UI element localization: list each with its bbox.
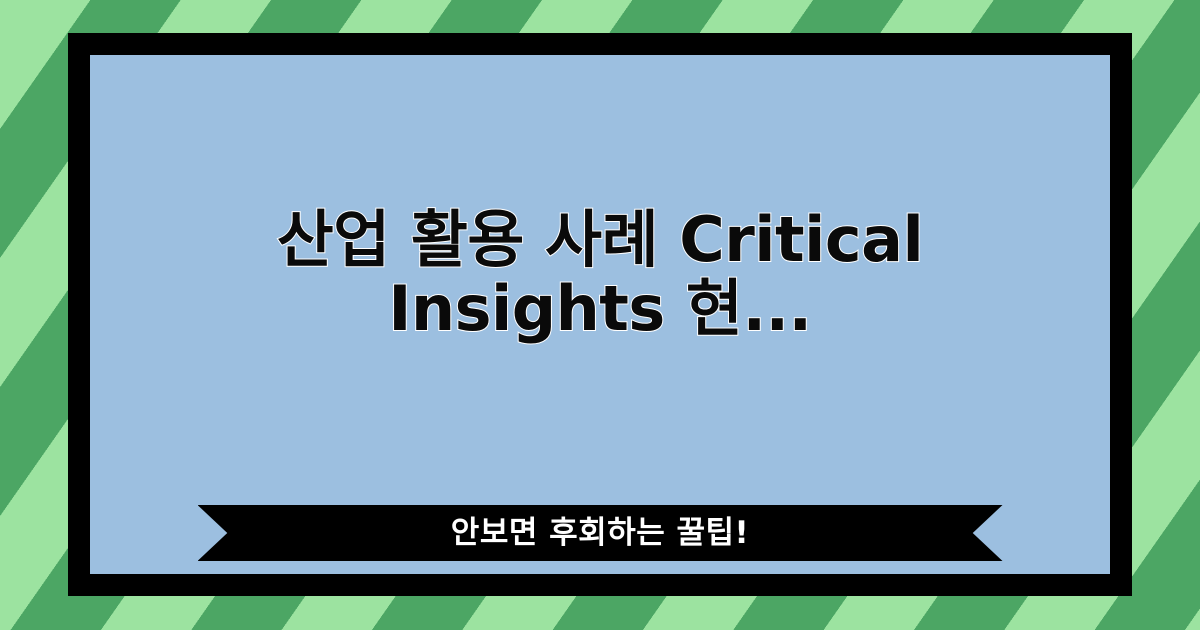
- headline-container: 산업 활용 사례 Critical Insights 현...: [90, 205, 1110, 344]
- ribbon-label: 안보면 후회하는 꿀팁!: [451, 518, 749, 549]
- ribbon-banner: 안보면 후회하는 꿀팁!: [198, 505, 1003, 561]
- page-title: 산업 활용 사례 Critical Insights 현...: [200, 205, 1000, 344]
- black-frame-border: 산업 활용 사례 Critical Insights 현... 안보면 후회하는…: [68, 33, 1132, 596]
- ribbon-container: 안보면 후회하는 꿀팁!: [90, 505, 1110, 561]
- inner-panel: 산업 활용 사례 Critical Insights 현... 안보면 후회하는…: [90, 55, 1110, 574]
- thumbnail-canvas: 산업 활용 사례 Critical Insights 현... 안보면 후회하는…: [0, 0, 1200, 630]
